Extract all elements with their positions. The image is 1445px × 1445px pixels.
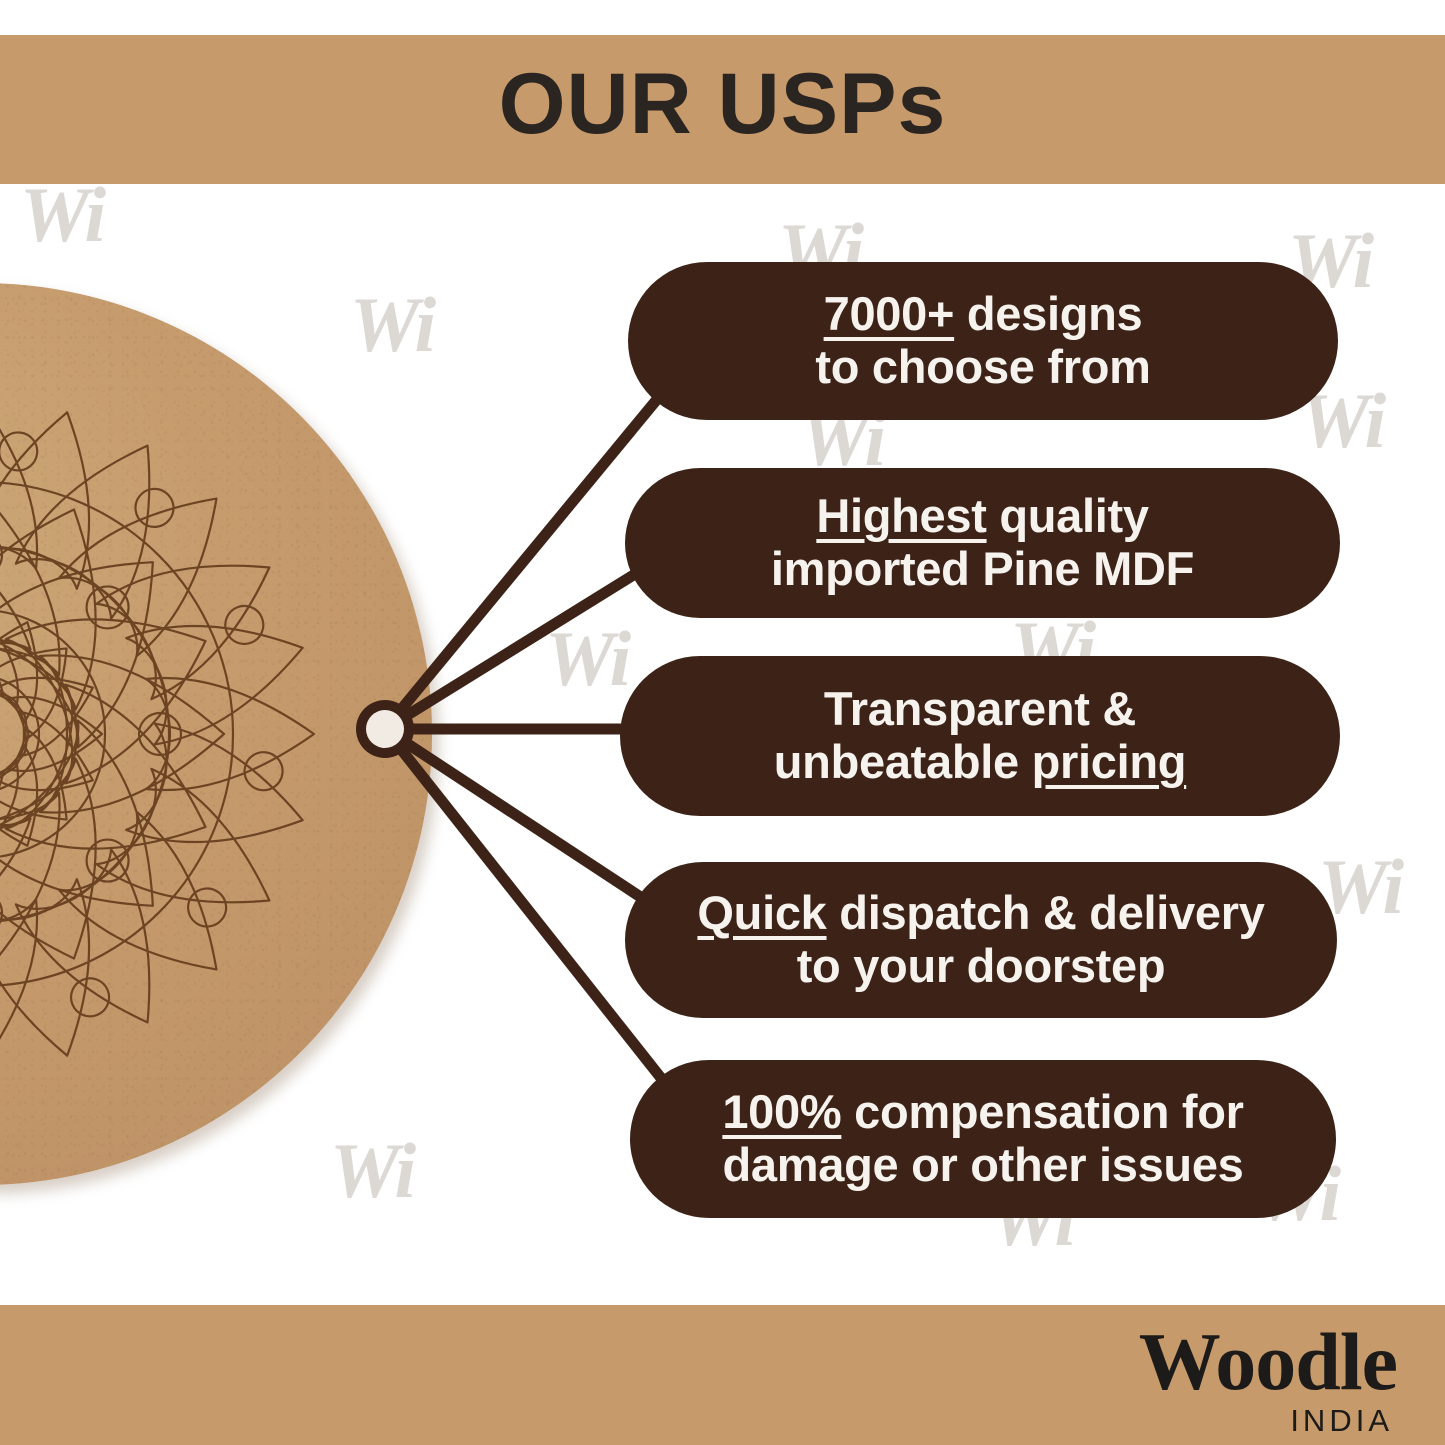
usp-text: imported Pine MDF (771, 542, 1194, 595)
brand-logo-subtitle: INDIA (1139, 1405, 1393, 1436)
usp-text: damage or other issues (722, 1138, 1243, 1191)
usp-pill-quality[interactable]: Highest quality imported Pine MDF (625, 468, 1340, 618)
usp-line-2: to choose from (815, 341, 1150, 394)
usp-text: to choose from (815, 340, 1150, 393)
usp-text: quality (987, 489, 1149, 542)
usp-line-2: imported Pine MDF (771, 543, 1194, 596)
usp-text: designs (954, 287, 1142, 340)
usp-highlight: 100% (722, 1085, 841, 1138)
usp-highlight: Highest (816, 489, 986, 542)
usp-highlight: pricing (1032, 735, 1187, 788)
usp-pill-dispatch[interactable]: Quick dispatch & delivery to your doorst… (625, 862, 1337, 1018)
usp-line-1: 7000+ designs (824, 288, 1143, 341)
brand-logo-word: Woodle (1139, 1323, 1397, 1401)
usp-pill-pricing[interactable]: Transparent & unbeatable pricing (620, 656, 1340, 816)
usp-pill-compensation[interactable]: 100% compensation for damage or other is… (630, 1060, 1336, 1218)
header-banner: OUR USPs (0, 35, 1445, 184)
usp-line-2: unbeatable pricing (774, 736, 1186, 789)
usp-highlight: Quick (697, 886, 826, 939)
usp-highlight: 7000+ (824, 287, 955, 340)
usp-pill-designs[interactable]: 7000+ designs to choose from (628, 262, 1338, 420)
usp-line-2: to your doorstep (797, 940, 1166, 993)
footer-banner: Woodle INDIA (0, 1305, 1445, 1445)
usp-text: unbeatable (774, 735, 1032, 788)
usp-text: dispatch & delivery (827, 886, 1265, 939)
usp-line-1: Quick dispatch & delivery (697, 887, 1264, 940)
page-title: OUR USPs (0, 61, 1445, 147)
usp-line-1: Highest quality (816, 490, 1148, 543)
brand-logo: Woodle INDIA (1139, 1323, 1397, 1436)
hub-node-core (366, 710, 404, 748)
usp-text: Transparent & (824, 682, 1136, 735)
usp-line-1: 100% compensation for (722, 1086, 1243, 1139)
infographic-canvas: Wi Wi Wi Wi Wi Wi Wi Wi Wi Wi Wi Wi (0, 0, 1445, 1445)
usp-text: compensation for (841, 1085, 1243, 1138)
usp-line-1: Transparent & (824, 683, 1136, 736)
usp-line-2: damage or other issues (722, 1139, 1243, 1192)
usp-text: to your doorstep (797, 939, 1166, 992)
